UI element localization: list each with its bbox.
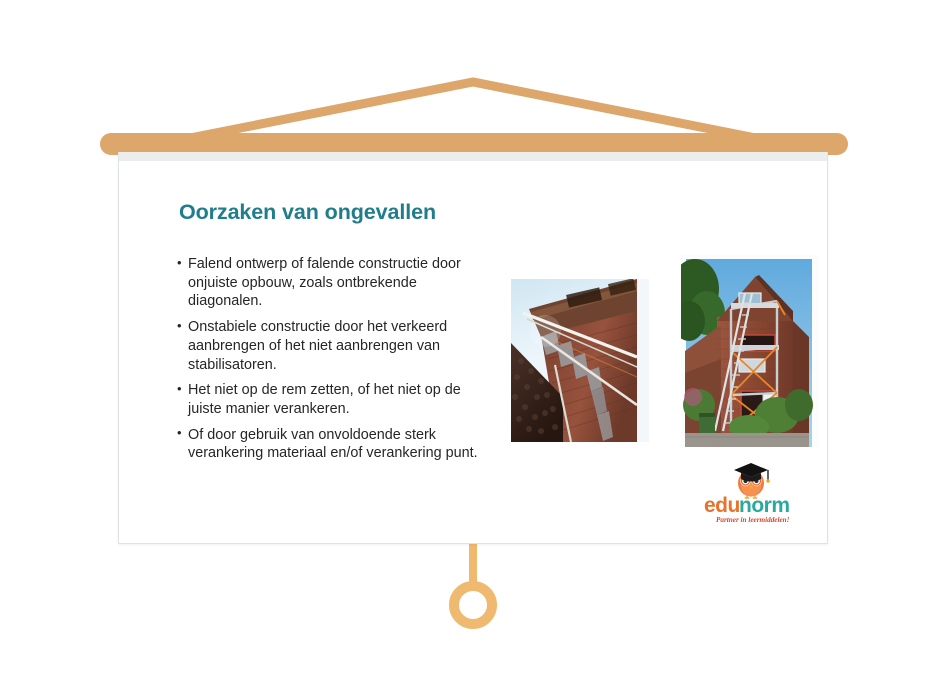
photo-roof-scaffold xyxy=(511,279,649,442)
logo-word-edu: edu xyxy=(704,494,740,517)
slide-title: Oorzaken van ongevallen xyxy=(179,200,436,225)
bullet-item: Onstabiele constructie door het verkeerd… xyxy=(177,318,489,374)
photo-house-ladder-scaffold xyxy=(681,255,819,447)
edunorm-logo: edu norm Partner in leermiddelen! xyxy=(692,457,810,527)
bullet-item: Het niet op de rem zetten, of het niet o… xyxy=(177,381,489,418)
slide-top-strip xyxy=(119,152,827,161)
bullet-item: Of door gebruik van onvoldoende sterk ve… xyxy=(177,426,489,463)
banner-pull-ring xyxy=(454,586,492,624)
slide-canvas: Oorzaken van ongevallen Falend ontwerp o… xyxy=(0,0,946,700)
presentation-slide: Oorzaken van ongevallen Falend ontwerp o… xyxy=(118,152,828,544)
bullet-list: Falend ontwerp of falende constructie do… xyxy=(177,255,489,470)
logo-tagline: Partner in leermiddelen! xyxy=(716,516,790,524)
logo-word-norm: norm xyxy=(739,494,790,517)
banner-hanging-cord xyxy=(170,82,776,142)
owl-graduate-icon xyxy=(734,463,770,498)
bullet-item: Falend ontwerp of falende constructie do… xyxy=(177,255,489,311)
